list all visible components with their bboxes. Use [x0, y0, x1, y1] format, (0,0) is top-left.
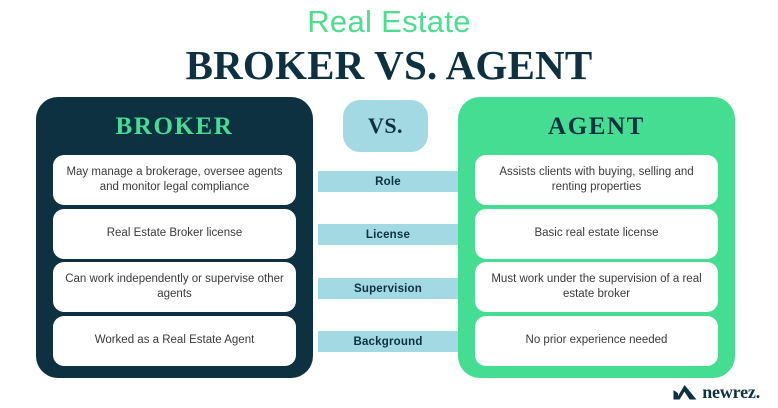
vs-badge-label: VS.: [368, 113, 403, 139]
title-block: Real Estate BROKER VS. AGENT: [0, 0, 778, 88]
broker-card-license-text: Real Estate Broker license: [107, 226, 243, 241]
comparison-band-role-label: Role: [375, 176, 401, 188]
comparison-band-background: Background: [318, 331, 458, 352]
agent-card-background-text: No prior experience needed: [526, 333, 668, 348]
agent-card-supervision-text: Must work under the supervision of a rea…: [485, 272, 708, 302]
comparison-band-role: Role: [318, 171, 458, 192]
roof-icon: [673, 384, 697, 400]
broker-card-list: May manage a brokerage, oversee agents a…: [53, 155, 296, 369]
agent-card-license-text: Basic real estate license: [534, 226, 658, 241]
agent-card-supervision: Must work under the supervision of a rea…: [475, 262, 718, 312]
brand-logo: newrez.: [673, 383, 760, 401]
comparison-band-supervision-label: Supervision: [354, 283, 422, 295]
broker-heading: BROKER: [36, 97, 313, 142]
agent-card-list: Assists clients with buying, selling and…: [475, 155, 718, 369]
vs-badge: VS.: [343, 100, 428, 152]
broker-card-role-text: May manage a brokerage, oversee agents a…: [63, 165, 286, 195]
eyebrow-text: Real Estate: [0, 0, 778, 40]
broker-card-supervision-text: Can work independently or supervise othe…: [63, 272, 286, 302]
brand-logo-text: newrez.: [702, 383, 760, 401]
comparison-band-background-label: Background: [353, 336, 422, 348]
agent-card-role: Assists clients with buying, selling and…: [475, 155, 718, 205]
broker-card-license: Real Estate Broker license: [53, 209, 296, 259]
broker-card-background-text: Worked as a Real Estate Agent: [95, 333, 255, 348]
comparison-band-license: License: [318, 224, 458, 245]
agent-panel: AGENT Assists clients with buying, selli…: [458, 97, 735, 378]
page-title: BROKER VS. AGENT: [0, 40, 778, 88]
broker-card-background: Worked as a Real Estate Agent: [53, 316, 296, 366]
broker-card-role: May manage a brokerage, oversee agents a…: [53, 155, 296, 205]
agent-card-license: Basic real estate license: [475, 209, 718, 259]
agent-card-role-text: Assists clients with buying, selling and…: [485, 165, 708, 195]
comparison-band-license-label: License: [366, 229, 410, 241]
agent-heading: AGENT: [458, 97, 735, 142]
agent-card-background: No prior experience needed: [475, 316, 718, 366]
broker-card-supervision: Can work independently or supervise othe…: [53, 262, 296, 312]
comparison-band-supervision: Supervision: [318, 278, 458, 299]
broker-panel: BROKER May manage a brokerage, oversee a…: [36, 97, 313, 378]
